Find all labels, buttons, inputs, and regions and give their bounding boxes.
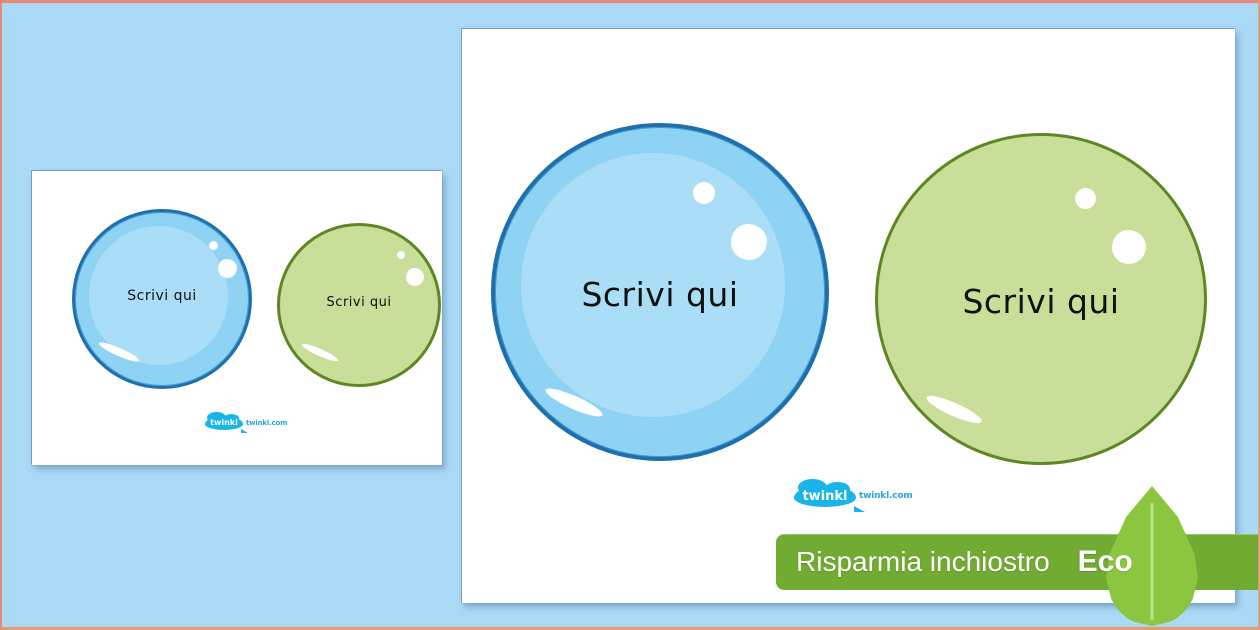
twinkl-cloud-icon: twinkl [205,416,243,430]
twinkl-logo[interactable]: twinkl twinkl.com [205,416,287,430]
bubble-label: Scrivi qui [75,288,249,304]
bubble-label: Scrivi qui [280,295,438,310]
bubble-shine-streak [300,341,339,364]
eco-saver-banner[interactable]: Risparmia inchiostro Eco [776,534,1260,590]
bubble-label: Scrivi qui [878,282,1204,321]
twinkl-domain: twinkl.com [246,420,287,427]
bubble-shine-streak [924,391,984,427]
main-bubble-green[interactable]: Scrivi qui [875,133,1207,465]
worksheet-preview-card[interactable]: Scrivi qui Scrivi qui twinkl twinkl.com [462,29,1235,603]
eco-badge-label: Eco [1078,545,1133,579]
twinkl-cloud-icon: twinkl [794,485,856,507]
bubble-highlight-dot-large [218,259,237,278]
twinkl-domain: twinkl.com [859,492,913,501]
bubble-highlight-dot-small [209,241,218,250]
preview-thumbnail-card[interactable]: Scrivi qui Scrivi qui twinkl twinkl.com [32,171,442,465]
bubble-highlight-dot-large [406,268,424,286]
bubble-highlight-dot-large [731,224,767,260]
twinkl-logo[interactable]: twinkl twinkl.com [794,485,913,507]
eco-banner-label: Risparmia inchiostro [796,546,1050,578]
bubble-highlight-dot-large [1112,230,1146,264]
bubble-highlight-dot-small [1075,188,1096,209]
bubble-label: Scrivi qui [495,275,825,314]
bubble-highlight-dot-small [397,251,405,259]
twinkl-wordmark: twinkl [210,419,238,427]
thumb-bubble-green[interactable]: Scrivi qui [277,223,441,387]
thumb-bubble-blue[interactable]: Scrivi qui [72,209,252,389]
twinkl-tail-icon [854,506,865,512]
main-bubble-blue[interactable]: Scrivi qui [491,123,829,461]
twinkl-tail-icon [241,429,248,433]
screenshot-canvas: Scrivi qui Scrivi qui twinkl twinkl.com [0,0,1260,630]
bubble-highlight-dot-small [693,182,715,204]
twinkl-wordmark: twinkl [802,490,847,503]
